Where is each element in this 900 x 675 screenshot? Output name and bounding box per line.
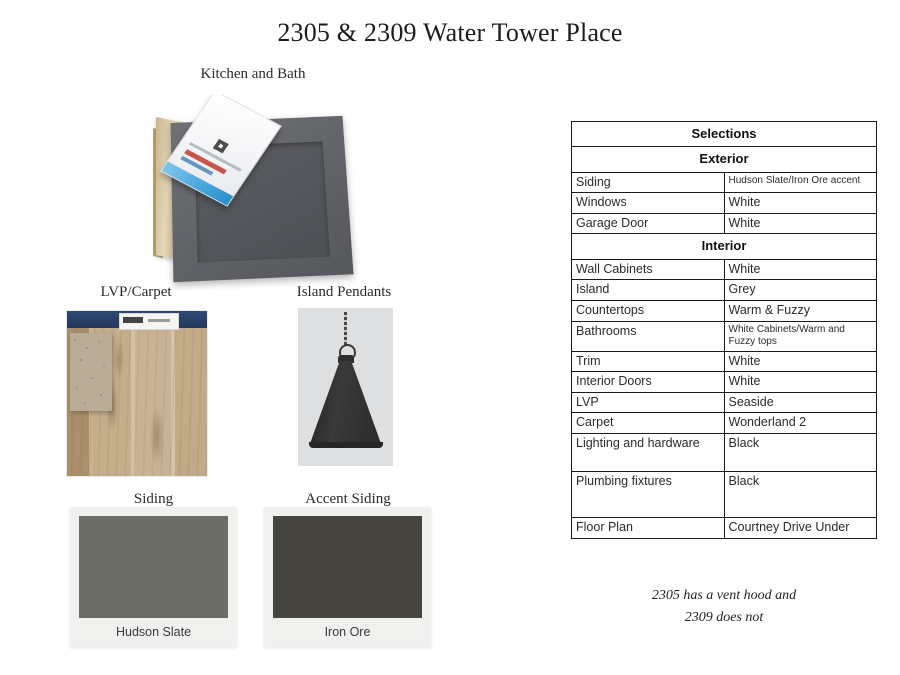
caption-lvp-carpet: LVP/Carpet [60, 284, 212, 301]
footer-note-line-1: 2305 has a vent hood and [571, 585, 877, 607]
section-header-row: Interior [572, 234, 877, 259]
price-tag-text-line [148, 319, 170, 322]
row-label: Siding [572, 172, 725, 193]
row-label: Wall Cabinets [572, 259, 725, 280]
table-row: LVPSeaside [572, 392, 877, 413]
section-header-interior: Interior [572, 234, 877, 259]
table-row: SidingHudson Slate/Iron Ore accent [572, 172, 877, 193]
price-tag-price [123, 317, 143, 323]
caption-accent-siding: Accent Siding [268, 491, 428, 508]
row-value: White [724, 193, 877, 214]
row-value: White [724, 259, 877, 280]
row-label: Plumbing fixtures [572, 472, 725, 518]
pendant-base-rim [309, 442, 383, 448]
table-row: Lighting and hardwareBlack [572, 434, 877, 472]
footer-note-line-2: 2309 does not [571, 607, 877, 629]
carpet-sample [70, 333, 112, 411]
section-header-row: Exterior [572, 147, 877, 172]
qr-code-icon [213, 139, 229, 153]
caption-kitchen-and-bath: Kitchen and Bath [153, 66, 353, 83]
page-title-text: 2305 & 2309 Water Tower Place [277, 18, 622, 47]
swatch-card-siding: Hudson Slate [70, 507, 237, 647]
swatch-card-accent-siding: Iron Ore [264, 507, 431, 647]
selections-table: SelectionsExteriorSidingHudson Slate/Iro… [571, 121, 877, 539]
row-value: Grey [724, 280, 877, 301]
swatch-label-hudson-slate: Hudson Slate [70, 625, 237, 639]
row-value: Black [724, 472, 877, 518]
table-row: Wall CabinetsWhite [572, 259, 877, 280]
selections-title-row: Selections [572, 122, 877, 147]
table-row: Interior DoorsWhite [572, 372, 877, 393]
table-row: Plumbing fixturesBlack [572, 472, 877, 518]
photo-kitchen-and-bath [150, 95, 365, 290]
selections-title: Selections [572, 122, 877, 147]
caption-island-pendants: Island Pendants [264, 284, 424, 301]
row-value: White [724, 351, 877, 372]
row-label: Carpet [572, 413, 725, 434]
price-tag [119, 313, 179, 330]
row-label: Interior Doors [572, 372, 725, 393]
row-label: Garage Door [572, 213, 725, 234]
caption-siding: Siding [76, 491, 231, 508]
table-row: Garage DoorWhite [572, 213, 877, 234]
row-value: Seaside [724, 392, 877, 413]
row-value: White Cabinets/Warm and Fuzzy tops [724, 321, 877, 351]
table-row: WindowsWhite [572, 193, 877, 214]
row-value: White [724, 372, 877, 393]
row-label: Bathrooms [572, 321, 725, 351]
table-row: BathroomsWhite Cabinets/Warm and Fuzzy t… [572, 321, 877, 351]
row-value: Courtney Drive Under [724, 518, 877, 539]
row-value: Black [724, 434, 877, 472]
row-label: Floor Plan [572, 518, 725, 539]
row-label: LVP [572, 392, 725, 413]
photo-lvp-carpet [66, 310, 208, 477]
row-value: White [724, 213, 877, 234]
table-row: CarpetWonderland 2 [572, 413, 877, 434]
table-row: CountertopsWarm & Fuzzy [572, 300, 877, 321]
table-row: TrimWhite [572, 351, 877, 372]
footer-note: 2305 has a vent hood and 2309 does not [571, 585, 877, 628]
row-value: Hudson Slate/Iron Ore accent [724, 172, 877, 193]
row-label: Trim [572, 351, 725, 372]
table-row: Floor PlanCourtney Drive Under [572, 518, 877, 539]
row-label: Windows [572, 193, 725, 214]
swatch-color-iron-ore [273, 516, 422, 618]
section-header-exterior: Exterior [572, 147, 877, 172]
swatch-color-hudson-slate [79, 516, 228, 618]
document-page: 2305 & 2309 Water Tower Place Kitchen an… [0, 0, 900, 675]
table-row: IslandGrey [572, 280, 877, 301]
pendant-shade [310, 361, 382, 445]
row-value: Warm & Fuzzy [724, 300, 877, 321]
row-label: Island [572, 280, 725, 301]
row-value: Wonderland 2 [724, 413, 877, 434]
row-label: Countertops [572, 300, 725, 321]
row-label: Lighting and hardware [572, 434, 725, 472]
photo-island-pendant [298, 308, 393, 466]
page-title: 2305 & 2309 Water Tower Place [0, 18, 900, 48]
swatch-label-iron-ore: Iron Ore [264, 625, 431, 639]
pendant-chain [344, 312, 347, 346]
